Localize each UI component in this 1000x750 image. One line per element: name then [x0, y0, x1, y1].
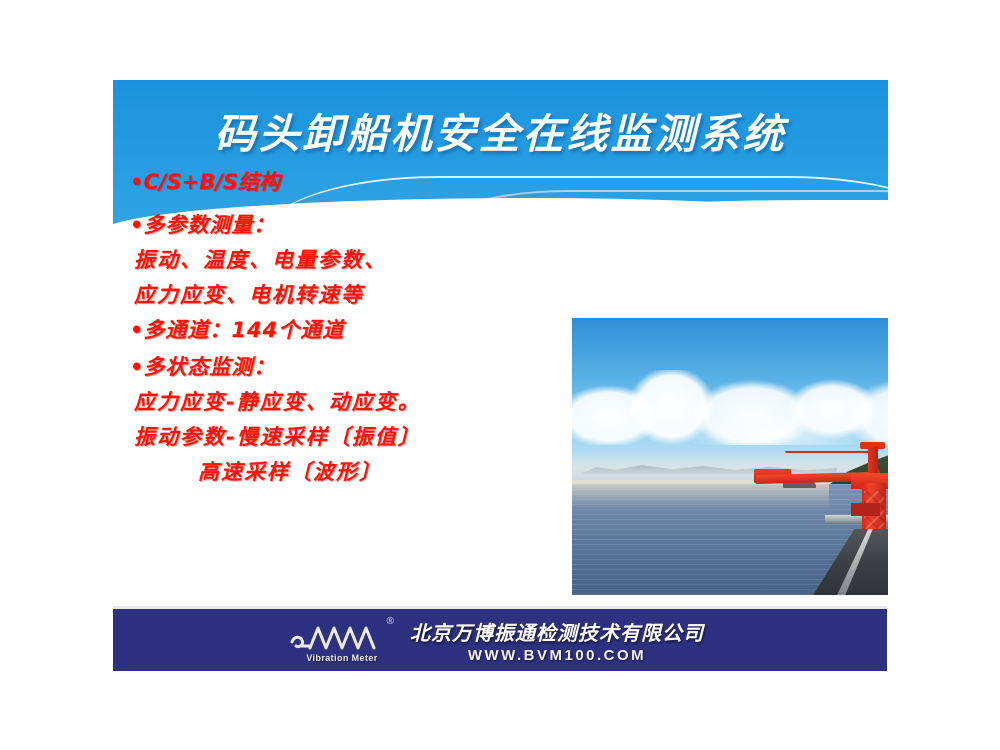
logo-wordmark: Vibration Meter — [292, 653, 392, 663]
list-item: 高速采样〔波形〕 — [198, 462, 476, 483]
bullet-marker: • — [130, 355, 143, 379]
list-item-label: 振动、温度、电量参数、 — [134, 248, 387, 272]
content-panel: 码头卸船机安全在线监测系统 •C/S+B/S结构 •多参数测量： 振动、温度、电… — [113, 80, 888, 595]
list-item-label: 多状态监测： — [143, 355, 275, 379]
list-item: 振动、温度、电量参数、 — [134, 250, 476, 271]
list-item: •多通道：144个通道 — [130, 320, 476, 341]
registered-trademark-icon: ® — [387, 616, 394, 627]
slide-canvas: 码头卸船机安全在线监测系统 •C/S+B/S结构 •多参数测量： 振动、温度、电… — [0, 0, 1000, 750]
list-item-label: 应力应变-静应变、动应变。 — [134, 390, 421, 414]
photo-clouds — [572, 370, 888, 445]
port-crane-photo: 宁波大榭 — [572, 318, 888, 595]
company-website: WWW.BVM100.COM — [468, 647, 646, 664]
crane-machinery — [851, 503, 880, 516]
list-item: 应力应变、电机转速等 — [134, 285, 476, 306]
company-name: 北京万博振通检测技术有限公司 — [410, 617, 704, 646]
bullet-marker: • — [130, 318, 143, 342]
footer-content: ® Vibration Meter 北京万博振通检测技术有限公司 WWW.BVM… — [284, 616, 704, 664]
list-item: 振动参数-慢速采样〔振值〕 — [134, 427, 476, 448]
footer-text-block: 北京万博振通检测技术有限公司 WWW.BVM100.COM — [410, 617, 704, 664]
list-item: •C/S+B/S结构 — [130, 172, 476, 193]
page-title: 码头卸船机安全在线监测系统 — [113, 100, 888, 160]
list-item: •多状态监测： — [130, 357, 476, 378]
list-item-label: 高速采样〔波形〕 — [198, 460, 382, 484]
list-item: 应力应变-静应变、动应变。 — [134, 392, 476, 413]
footer-bar: ® Vibration Meter 北京万博振通检测技术有限公司 WWW.BVM… — [113, 606, 887, 671]
list-item-label: 多通道：144个通道 — [143, 318, 344, 342]
list-item-label: 振动参数-慢速采样〔振值〕 — [134, 425, 421, 449]
list-item-label: 多参数测量： — [143, 213, 275, 237]
bullet-list: •C/S+B/S结构 •多参数测量： 振动、温度、电量参数、 应力应变、电机转速… — [126, 172, 476, 493]
list-item-label: C/S+B/S结构 — [143, 170, 280, 194]
crane-mast — [868, 447, 878, 475]
bullet-marker: • — [130, 213, 143, 237]
list-item: •多参数测量： — [130, 215, 476, 236]
vibration-meter-logo: ® Vibration Meter — [284, 616, 396, 664]
bullet-marker: • — [130, 170, 143, 194]
list-item-label: 应力应变、电机转速等 — [134, 283, 364, 307]
